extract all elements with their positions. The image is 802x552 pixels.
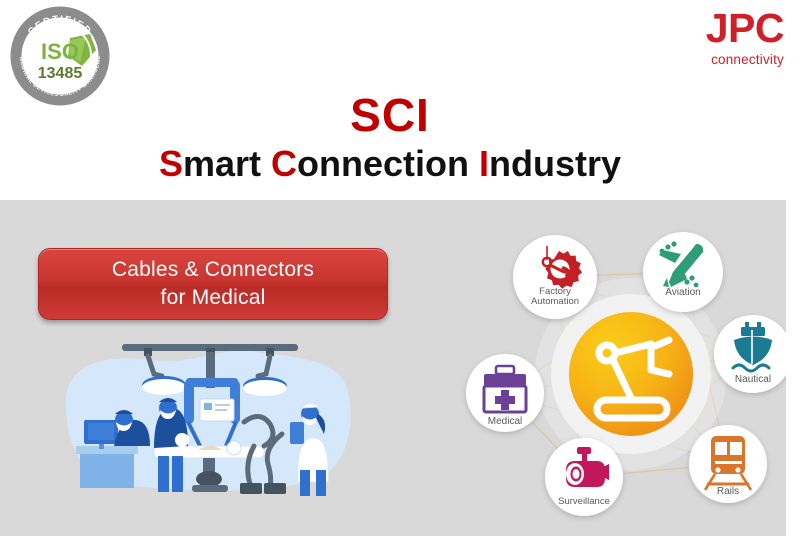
robot-base-right (264, 483, 286, 494)
nurse-tablet (290, 422, 304, 444)
node-label: Medical (488, 416, 522, 427)
sector-node-aviation[interactable]: Aviation (643, 232, 723, 312)
table-base (192, 485, 228, 492)
console-desk-top (76, 446, 138, 454)
banner-line-1: Cables & Connectors (112, 256, 314, 284)
robotic-surgery-illustration (58, 330, 358, 510)
subtitle-part-2: C (271, 143, 297, 184)
sector-node-factory-automation[interactable]: Factory Automation (513, 235, 597, 319)
subtitle-part-3: onnection (297, 143, 479, 184)
sector-node-nautical[interactable]: Nautical (714, 315, 792, 393)
sector-node-medical[interactable]: Medical (466, 354, 544, 432)
page-edge-right (786, 200, 802, 552)
node-label: Surveillance (558, 496, 610, 507)
subtitle-part-1: mart (183, 143, 271, 184)
nurse-leg-right (316, 470, 326, 496)
console-desk (80, 452, 134, 488)
jpc-logo-tagline: connectivity (706, 53, 784, 67)
sector-node-surveillance[interactable]: Surveillance (545, 438, 623, 516)
surgeon-leg-right (172, 456, 183, 492)
sector-node-rails[interactable]: Rails (689, 425, 767, 503)
gantry-arm-left (184, 380, 194, 424)
robot-end-effector (227, 441, 241, 455)
display-content-b (215, 404, 230, 406)
industry-sector-cluster: Factory Automation Aviati (455, 222, 795, 522)
page-subtitle: Smart Connection Industry (0, 143, 780, 185)
subtitle-part-4: I (479, 143, 489, 184)
jpc-logo-mark: JPC (706, 8, 784, 49)
table-hub (196, 471, 222, 487)
monitor-stand (99, 444, 104, 449)
display-content-c (215, 409, 227, 411)
iso-number-text: 13485 (38, 65, 83, 82)
display-content-a (204, 403, 212, 410)
node-label-line2: Automation (531, 296, 579, 307)
lamp-glass-left (142, 379, 186, 395)
surgeon-gloved-hand (175, 433, 189, 447)
cables-connectors-banner[interactable]: Cables & Connectors for Medical (38, 248, 388, 320)
subtitle-part-0: S (159, 143, 183, 184)
page-title: SCI (0, 88, 780, 142)
monitor-screen (88, 423, 114, 440)
jpc-logo: JPC connectivity (706, 8, 784, 67)
lamp-glass-right (243, 380, 287, 396)
node-label: Rails (717, 486, 739, 497)
node-label: Aviation (665, 287, 700, 298)
robot-base-left (240, 483, 262, 494)
hub-node-automation[interactable] (569, 312, 693, 436)
nurse-leg-left (300, 470, 310, 496)
iso-standard-text: ISO (41, 39, 79, 64)
banner-line-2: for Medical (161, 284, 266, 312)
node-label: Nautical (735, 374, 771, 385)
subtitle-part-5: ndustry (489, 143, 621, 184)
slide-canvas: ISO 13485 CERTIFIED MEDICAL DEVICES • QU… (0, 0, 802, 552)
surgeon-leg-left (158, 456, 169, 492)
page-edge-bottom (0, 536, 802, 552)
